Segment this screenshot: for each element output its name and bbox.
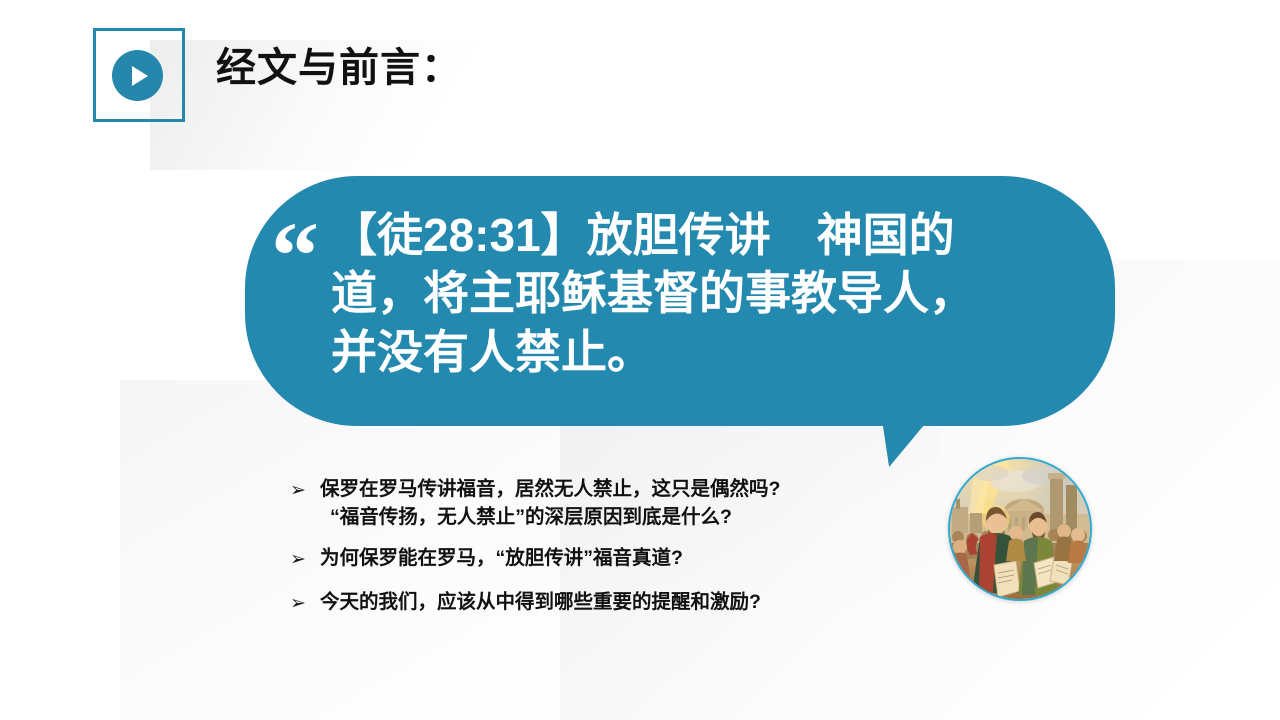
quote-bubble: “ 【徒28:31】放胆传讲 神国的 道，将主耶稣基督的事教导人， 并没有人禁止… [245,176,1115,426]
paul-preaching-in-rome-illustration [948,457,1092,601]
page-title: 经文与前言： [216,44,462,92]
quote-line: 并没有人禁止。 [331,323,1085,381]
list-item-line: “福音传扬，无人禁止”的深层原因到底是什么? [320,504,920,532]
list-item-text: 今天的我们，应该从中得到哪些重要的提醒和激励? [320,589,920,617]
play-triangle-icon [132,66,148,86]
quote-bubble-tail [875,412,935,467]
list-item[interactable]: ➢ 为何保罗能在罗马，“放胆传讲”福音真道? [290,545,920,574]
arrow-bullet-icon: ➢ [290,589,320,618]
list-item-text: 为何保罗能在罗马，“放胆传讲”福音真道? [320,545,920,573]
quote-line: 道，将主耶稣基督的事教导人， [331,264,1085,322]
list-item[interactable]: ➢ 保罗在罗马传讲福音，居然无人禁止，这只是偶然吗? “福音传扬，无人禁止”的深… [290,476,920,531]
quote-text: 【徒28:31】放胆传讲 神国的 道，将主耶稣基督的事教导人， 并没有人禁止。 [331,206,1085,381]
slide-canvas: 经文与前言： “ 【徒28:31】放胆传讲 神国的 道，将主耶稣基督的事教导人，… [0,0,1280,720]
arrow-bullet-icon: ➢ [290,545,320,574]
play-button-icon[interactable] [112,50,163,101]
list-item-text: 保罗在罗马传讲福音，居然无人禁止，这只是偶然吗? “福音传扬，无人禁止”的深层原… [320,476,920,531]
quote-line: 【徒28:31】放胆传讲 神国的 [331,206,1085,264]
arrow-bullet-icon: ➢ [290,476,320,505]
list-item-line: 今天的我们，应该从中得到哪些重要的提醒和激励? [320,589,920,617]
list-item[interactable]: ➢ 今天的我们，应该从中得到哪些重要的提醒和激励? [290,589,920,618]
illustration-art [950,459,1090,599]
list-item-line: 保罗在罗马传讲福音，居然无人禁止，这只是偶然吗? [320,476,920,504]
quote-bubble-content: “ 【徒28:31】放胆传讲 神国的 道，将主耶稣基督的事教导人， 并没有人禁止… [245,176,1115,426]
list-item-line: 为何保罗能在罗马，“放胆传讲”福音真道? [320,545,920,573]
quote-mark-icon: “ [271,226,319,286]
question-list: ➢ 保罗在罗马传讲福音，居然无人禁止，这只是偶然吗? “福音传扬，无人禁止”的深… [290,476,920,632]
